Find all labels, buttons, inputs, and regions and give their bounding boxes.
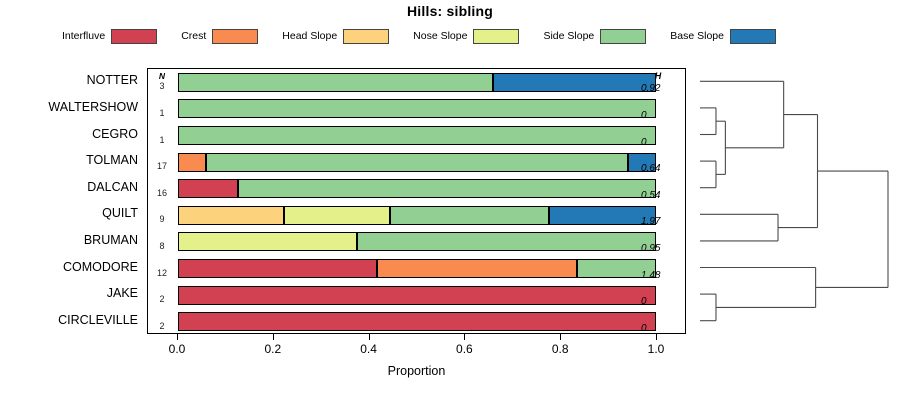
stacked-bar[interactable] [178, 259, 656, 278]
legend-item-label: Side Slope [543, 30, 594, 42]
x-axis-tick-label: 0.2 [253, 342, 293, 356]
bar-segment[interactable] [178, 312, 656, 331]
n-value: 16 [148, 188, 176, 198]
y-axis-label: CIRCLEVILLE [0, 313, 143, 327]
bar-track [178, 99, 656, 118]
legend-item[interactable]: Side Slope [543, 29, 646, 44]
x-axis-tick [177, 334, 178, 340]
legend-item-label: Interfluve [62, 30, 105, 42]
n-value: 2 [148, 321, 176, 331]
legend-item[interactable]: Nose Slope [413, 29, 519, 44]
bar-segment[interactable] [178, 153, 206, 172]
stacked-bar[interactable] [178, 153, 656, 172]
bar-segment[interactable] [178, 286, 656, 305]
stacked-bar[interactable] [178, 126, 656, 145]
legend-item-label: Nose Slope [413, 30, 467, 42]
stacked-bars-region [178, 69, 656, 335]
legend-color-swatch [473, 29, 519, 44]
n-value: 1 [148, 108, 176, 118]
dendrogram [686, 60, 900, 342]
h-column-header: H [637, 71, 679, 81]
y-axis-label: CEGRO [0, 127, 143, 141]
stacked-bar[interactable] [178, 73, 656, 92]
n-column: N 3111716981222 [148, 69, 178, 335]
legend-item-label: Head Slope [282, 30, 337, 42]
h-value: 0 [637, 296, 683, 307]
n-value: 9 [148, 214, 176, 224]
n-value: 3 [148, 81, 176, 91]
h-value: 0 [637, 110, 683, 121]
bar-track [178, 153, 656, 172]
x-axis-title: Proportion [147, 364, 686, 378]
h-value: 0 [637, 137, 683, 148]
stacked-bar[interactable] [178, 286, 656, 305]
bar-track [178, 179, 656, 198]
bar-segment[interactable] [178, 73, 493, 92]
bar-segment[interactable] [390, 206, 549, 225]
bar-segment[interactable] [178, 232, 357, 251]
n-value: 1 [148, 135, 176, 145]
bar-track [178, 259, 656, 278]
n-value: 17 [148, 161, 176, 171]
legend-color-swatch [730, 29, 776, 44]
h-value: 0.95 [637, 243, 683, 254]
legend-color-swatch [212, 29, 258, 44]
h-value: 0.92 [637, 83, 683, 94]
bar-track [178, 312, 656, 331]
bar-segment[interactable] [206, 153, 628, 172]
legend-item-label: Crest [181, 30, 206, 42]
bar-track [178, 126, 656, 145]
legend-item[interactable]: Interfluve [62, 29, 157, 44]
legend-item[interactable]: Crest [181, 29, 258, 44]
y-axis-label: QUILT [0, 206, 143, 220]
bar-segment[interactable] [377, 259, 576, 278]
legend-item[interactable]: Base Slope [670, 29, 776, 44]
x-axis-tick-label: 0.4 [349, 342, 389, 356]
stacked-bar[interactable] [178, 312, 656, 331]
bar-segment[interactable] [178, 99, 656, 118]
dendrogram-svg [686, 60, 900, 342]
bar-segment[interactable] [178, 179, 238, 198]
legend-item[interactable]: Head Slope [282, 29, 389, 44]
y-axis-label: DALCAN [0, 180, 143, 194]
stacked-bar[interactable] [178, 232, 656, 251]
legend-item-label: Base Slope [670, 30, 724, 42]
y-axis-label: JAKE [0, 286, 143, 300]
stacked-bar[interactable] [178, 206, 656, 225]
h-value: 0.54 [637, 190, 683, 201]
legend-color-swatch [343, 29, 389, 44]
y-axis-labels: NOTTERWALTERSHOWCEGROTOLMANDALCANQUILTBR… [0, 68, 143, 334]
y-axis-label: NOTTER [0, 73, 143, 87]
y-axis-label: COMODORE [0, 260, 143, 274]
bar-segment[interactable] [284, 206, 390, 225]
bar-track [178, 206, 656, 225]
bar-segment[interactable] [178, 206, 284, 225]
bar-segment[interactable] [178, 126, 656, 145]
h-value: 0.64 [637, 163, 683, 174]
y-axis-label: TOLMAN [0, 153, 143, 167]
x-axis-tick [273, 334, 274, 340]
x-axis-tick-label: 0.8 [540, 342, 580, 356]
chart-legend: InterfluveCrestHead SlopeNose SlopeSide … [62, 27, 782, 45]
legend-color-swatch [600, 29, 646, 44]
x-axis-tick-label: 0.0 [157, 342, 197, 356]
legend-color-swatch [111, 29, 157, 44]
n-column-header: N [148, 71, 176, 81]
h-column: H 0.92000.640.541.970.951.4800 [637, 69, 685, 335]
stacked-bar[interactable] [178, 179, 656, 198]
n-value: 2 [148, 294, 176, 304]
plot-panel: N 3111716981222 H 0.92000.640.541.970.95… [147, 68, 686, 334]
x-axis-tick [464, 334, 465, 340]
bar-segment[interactable] [357, 232, 656, 251]
x-axis-tick [560, 334, 561, 340]
y-axis-label: WALTERSHOW [0, 100, 143, 114]
bar-segment[interactable] [178, 259, 377, 278]
stacked-bar[interactable] [178, 99, 656, 118]
bar-segment[interactable] [238, 179, 656, 198]
h-value: 1.48 [637, 270, 683, 281]
bar-track [178, 286, 656, 305]
n-value: 12 [148, 268, 176, 278]
y-axis-label: BRUMAN [0, 233, 143, 247]
h-value: 1.97 [637, 216, 683, 227]
n-value: 8 [148, 241, 176, 251]
bar-track [178, 73, 656, 92]
x-axis-tick-label: 1.0 [636, 342, 676, 356]
x-axis-tick [656, 334, 657, 340]
page-title: Hills: sibling [0, 3, 900, 19]
x-axis-tick [369, 334, 370, 340]
bar-track [178, 232, 656, 251]
bar-segment[interactable] [493, 73, 656, 92]
x-axis-tick-label: 0.6 [444, 342, 484, 356]
h-value: 0 [637, 323, 683, 334]
